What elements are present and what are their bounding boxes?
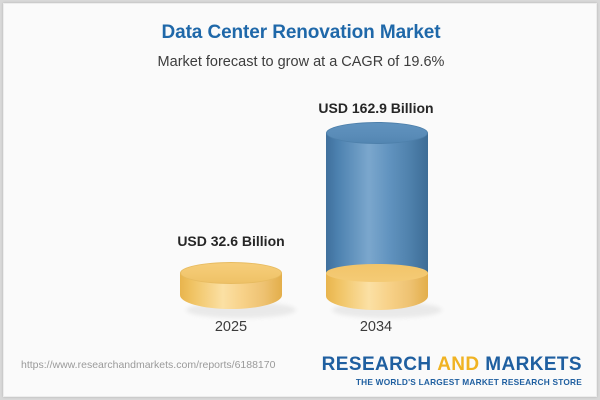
bar-cylinder-2034: [326, 122, 428, 316]
data-label-2025: USD 32.6 Billion: [151, 233, 311, 249]
logo-word-markets: MARKETS: [485, 354, 582, 375]
data-label-2034: USD 162.9 Billion: [296, 100, 456, 116]
research-and-markets-logo[interactable]: RESEARCH AND MARKETS THE WORLD'S LARGEST…: [322, 355, 582, 387]
chart-area: Data Center Renovation Market Market for…: [4, 4, 598, 349]
category-label-2034: 2034: [296, 319, 456, 335]
category-label-2025: 2025: [151, 319, 311, 335]
bar-top-ellipse-2025: [180, 262, 282, 284]
logo-wordmark: RESEARCH AND MARKETS: [322, 355, 582, 375]
bar-cylinder-2025: [180, 262, 282, 316]
report-url[interactable]: https://www.researchandmarkets.com/repor…: [21, 359, 275, 371]
bar-segment-divider-2034: [326, 264, 428, 282]
logo-word-and: AND: [437, 354, 479, 375]
page-subtitle: Market forecast to grow at a CAGR of 19.…: [4, 54, 598, 70]
logo-tagline: THE WORLD'S LARGEST MARKET RESEARCH STOR…: [322, 377, 582, 387]
bar-top-ellipse-2034: [326, 122, 428, 144]
logo-word-research: RESEARCH: [322, 354, 432, 375]
page-title: Data Center Renovation Market: [4, 22, 598, 44]
footer: https://www.researchandmarkets.com/repor…: [4, 349, 598, 396]
infographic-card: Data Center Renovation Market Market for…: [3, 3, 597, 397]
bar-segment-blue-2034: [326, 133, 428, 273]
